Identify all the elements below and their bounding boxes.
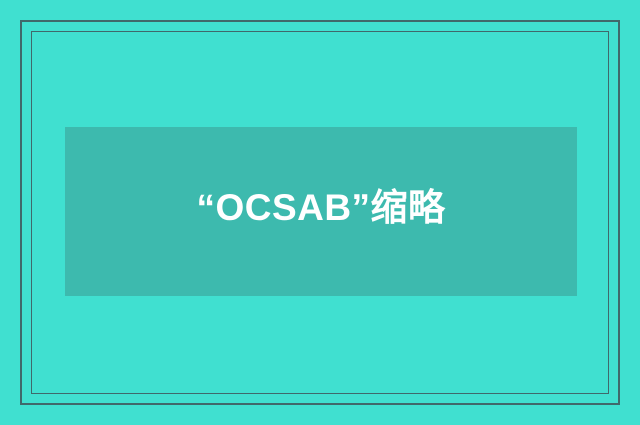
- title-banner: “OCSAB”缩略: [65, 127, 577, 296]
- title-text: “OCSAB”缩略: [196, 188, 445, 229]
- slide-canvas: “OCSAB”缩略: [0, 0, 640, 425]
